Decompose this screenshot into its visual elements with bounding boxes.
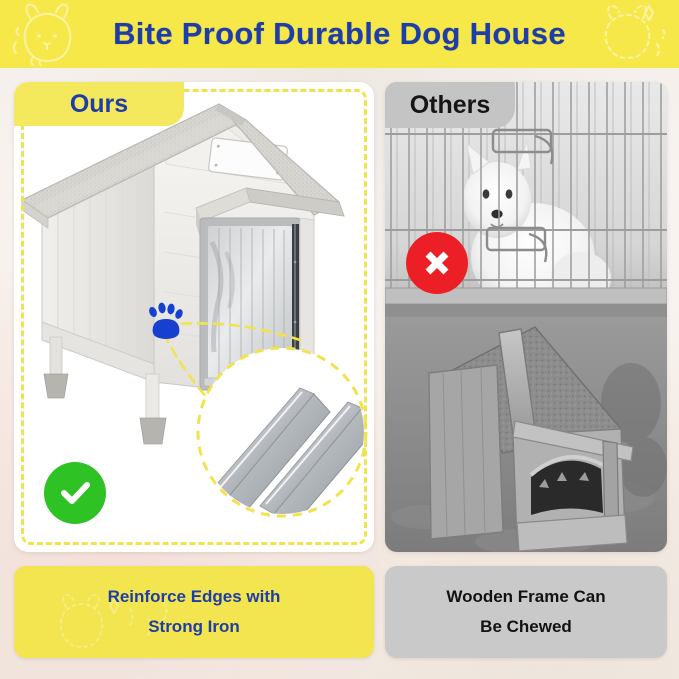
foot-pad bbox=[44, 374, 68, 398]
ours-caption-line-2: Strong Iron bbox=[148, 612, 240, 642]
others-tab-label: Others bbox=[410, 91, 491, 120]
ours-tab-label: Ours bbox=[70, 90, 128, 119]
metal-bracket-callout bbox=[198, 348, 374, 530]
foot-pad bbox=[140, 418, 166, 444]
check-circle-icon bbox=[44, 462, 106, 524]
comparison-area: Ours bbox=[0, 68, 679, 679]
product-comparison-infographic: Bite Proof Durable Dog House bbox=[0, 0, 679, 679]
x-circle-icon bbox=[406, 232, 468, 294]
others-tab: Others bbox=[385, 82, 515, 128]
others-caption-box: Wooden Frame Can Be Chewed bbox=[385, 566, 667, 658]
ours-caption-line-1: Reinforce Edges with bbox=[108, 582, 281, 612]
page-title: Bite Proof Durable Dog House bbox=[0, 0, 679, 68]
header-banner: Bite Proof Durable Dog House bbox=[0, 0, 679, 68]
others-caption-line-1: Wooden Frame Can bbox=[446, 582, 605, 612]
ours-panel: Ours bbox=[14, 82, 374, 552]
others-caption-line-2: Be Chewed bbox=[480, 612, 572, 642]
others-panel: Others bbox=[385, 82, 667, 552]
ours-tab: Ours bbox=[14, 82, 184, 126]
ours-caption-box: Reinforce Edges with Strong Iron bbox=[14, 566, 374, 658]
chewed-wooden-dog-house-photo bbox=[385, 317, 667, 552]
